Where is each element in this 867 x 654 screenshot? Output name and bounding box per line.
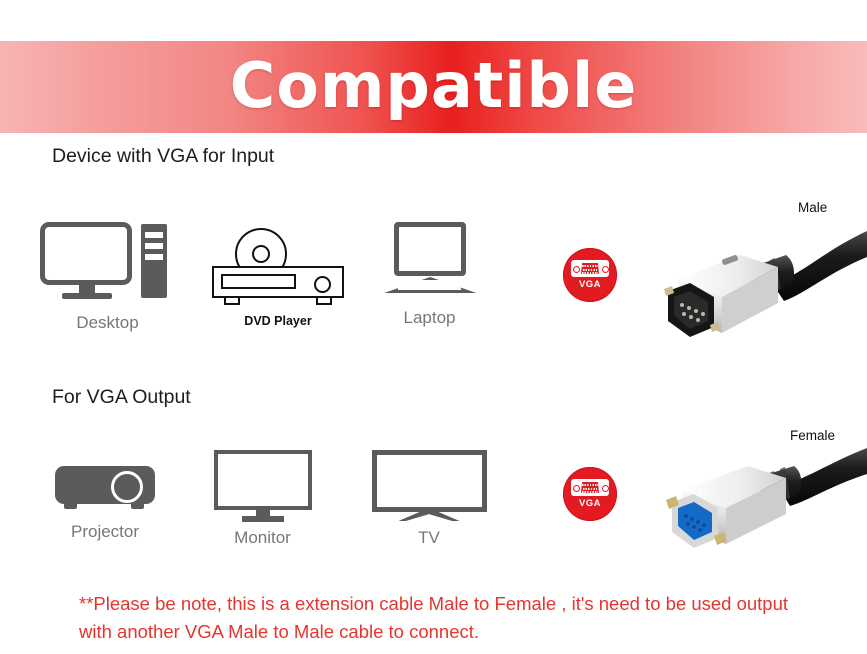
section-title-output: For VGA Output: [52, 386, 191, 409]
vga-screw-hole: [602, 485, 609, 492]
vga-connector-icon: [571, 260, 609, 277]
dvd-tray-slot: [221, 274, 296, 289]
projector-foot: [131, 504, 144, 509]
section-title-input: Device with VGA for Input: [52, 145, 274, 168]
device-caption-dvd: DVD Player: [198, 314, 358, 328]
laptop-icon: [384, 222, 476, 302]
device-monitor: Monitor: [200, 450, 325, 548]
device-laptop: Laptop: [367, 222, 492, 328]
vga-screw-hole: [573, 485, 580, 492]
vga-badge-input: VGA: [563, 248, 617, 302]
desktop-monitor-base: [62, 293, 112, 299]
vga-pin-row: [582, 491, 598, 493]
dvd-power-knob: [314, 276, 331, 293]
vga-pin-housing: [581, 263, 599, 274]
vga-connector-icon: [571, 479, 609, 496]
monitor-screen-shape: [214, 450, 312, 510]
vga-pin-housing: [581, 482, 599, 493]
desktop-monitor-shape: [40, 222, 132, 285]
laptop-base-shape: [384, 277, 476, 293]
connector-photo-male: [660, 205, 867, 340]
female-connector-illustration: [660, 428, 867, 563]
vga-screw-hole: [602, 266, 609, 273]
header-banner: Compatible: [0, 41, 867, 133]
vga-screw-hole: [573, 266, 580, 273]
dvd-player-icon: [212, 228, 344, 308]
desktop-icon: [40, 222, 175, 307]
device-desktop: Desktop: [35, 222, 180, 333]
desktop-tower-shape: [141, 224, 167, 298]
projector-icon: [55, 466, 155, 516]
vga-pin-row: [583, 488, 597, 490]
tower-bay-slot: [145, 232, 163, 238]
projector-lens-shape: [111, 471, 143, 503]
dvd-foot: [224, 298, 240, 305]
dvd-disc-hole: [252, 245, 270, 263]
vga-badge-label: VGA: [563, 279, 617, 290]
notice-text: **Please be note, this is a extension ca…: [79, 590, 819, 646]
device-projector: Projector: [40, 466, 170, 542]
device-caption-monitor: Monitor: [200, 528, 325, 548]
monitor-base: [242, 516, 284, 522]
device-caption-desktop: Desktop: [35, 313, 180, 333]
tower-bay-slot: [145, 254, 163, 260]
tower-bay-slot: [145, 243, 163, 249]
projector-foot: [64, 504, 77, 509]
device-tv: TV: [365, 450, 493, 548]
laptop-screen-shape: [394, 222, 466, 276]
vga-badge-label: VGA: [563, 498, 617, 509]
male-connector-illustration: [660, 205, 867, 340]
device-caption-projector: Projector: [40, 522, 170, 542]
vga-pin-row: [583, 269, 597, 271]
dvd-foot: [316, 298, 332, 305]
connector-photo-female: [660, 428, 867, 563]
vga-badge-output: VGA: [563, 467, 617, 521]
tv-screen-shape: [372, 450, 487, 512]
device-caption-laptop: Laptop: [367, 308, 492, 328]
page-title: Compatible: [0, 41, 867, 133]
device-caption-tv: TV: [365, 528, 493, 548]
monitor-icon: [214, 450, 312, 522]
device-dvd-player: DVD Player: [198, 228, 358, 328]
laptop-keyboard-area: [398, 280, 462, 290]
tv-icon: [372, 450, 487, 522]
vga-pin-row: [582, 265, 598, 267]
vga-pin-row: [582, 272, 598, 274]
infographic-page: Compatible Device with VGA for Input Des…: [0, 0, 867, 654]
vga-pin-row: [582, 484, 598, 486]
